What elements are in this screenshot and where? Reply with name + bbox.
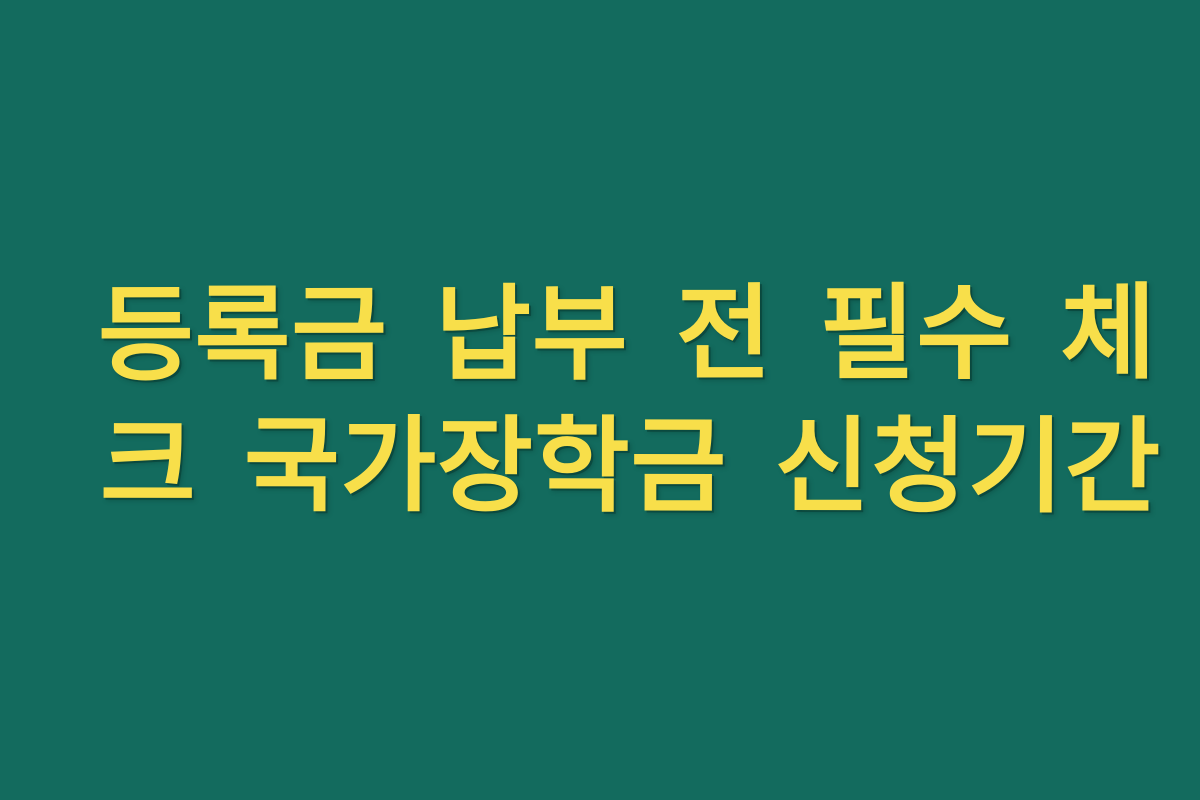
headline-line-1: 등록금 납부 전 필수 체	[98, 267, 1098, 401]
headline-line-2: 크 국가장학금 신청기간	[100, 399, 1100, 533]
headline-text-block: 등록금 납부 전 필수 체 크 국가장학금 신청기간	[100, 268, 1100, 532]
banner-canvas: 등록금 납부 전 필수 체 크 국가장학금 신청기간	[0, 0, 1200, 800]
